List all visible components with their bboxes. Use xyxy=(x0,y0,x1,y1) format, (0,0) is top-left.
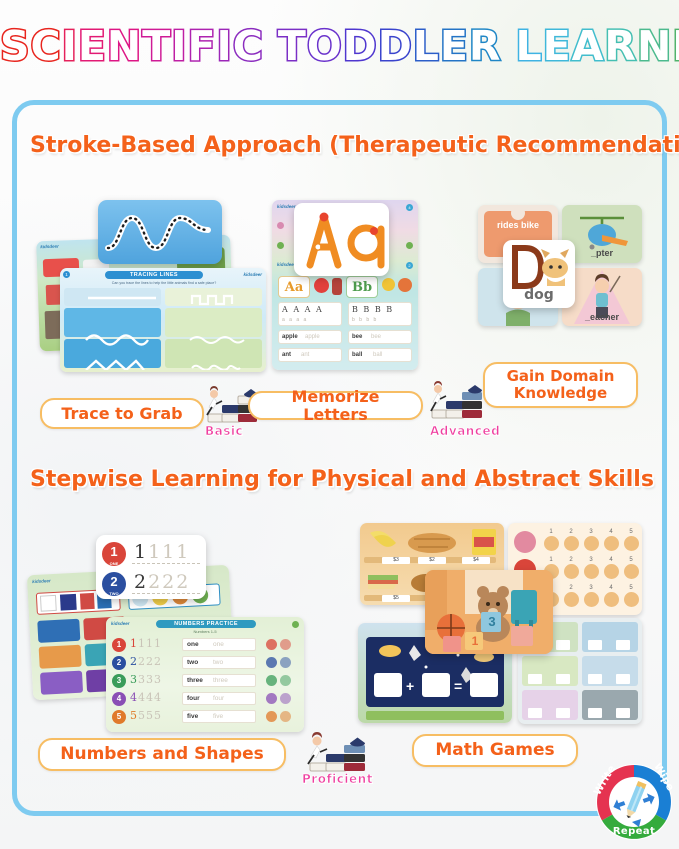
counting-number: 5 xyxy=(622,529,640,535)
ball-icon xyxy=(398,278,412,292)
counting-cell: 5 xyxy=(622,529,640,555)
numbers-overlay-card: 1ONE11112TWO2222 xyxy=(96,535,206,599)
section-heading-stepwise: Stepwise Learning for Physical and Abstr… xyxy=(30,467,654,492)
badge-label: Trace to Grab xyxy=(61,405,182,423)
counting-number: 1 xyxy=(542,557,560,563)
title-letter-2: II xyxy=(62,22,78,70)
cracker-icon xyxy=(544,536,559,551)
tracing-title: TRACING LINES xyxy=(105,271,203,279)
shape-tile xyxy=(39,645,82,669)
playroom-scene-icon xyxy=(425,570,553,654)
word-label: bee xyxy=(352,334,362,340)
fruit-icon xyxy=(280,711,291,722)
flashcard-label: rides bike xyxy=(478,219,558,231)
write-wipe-repeat-seal: Write Wipe Repeat xyxy=(595,763,673,841)
badge-trace-to-grab[interactable]: Trace to Grab xyxy=(40,398,204,429)
dotted-wave-icon xyxy=(98,200,222,264)
trace-letters-lower: b b b b xyxy=(352,317,378,323)
domino-icon xyxy=(60,594,77,611)
counting-cell: 4 xyxy=(602,585,620,611)
tracing-subtitle: Can you trace the lines to help the litt… xyxy=(84,281,244,285)
title-letter-6: II xyxy=(171,22,187,70)
brand-label: kidsdeer xyxy=(40,244,59,250)
answer-box[interactable] xyxy=(616,674,630,684)
title-letter-9: CC xyxy=(233,22,264,70)
numbers-subtitle: Numbers 1-5 xyxy=(106,629,304,634)
counting-number: 5 xyxy=(622,557,640,563)
word-row-bee: bee bee xyxy=(348,330,412,344)
numbers-practice-row: 22222twotwo xyxy=(110,655,300,671)
answer-box[interactable] xyxy=(616,640,630,650)
page-badge: 2 xyxy=(406,262,413,269)
step-number: 1 xyxy=(63,271,70,278)
price-tag: $3 xyxy=(382,557,410,564)
cracker-icon xyxy=(584,592,599,607)
title-letter-3: EE xyxy=(78,22,107,70)
counting-number: 4 xyxy=(602,585,620,591)
cracker-icon xyxy=(624,536,639,551)
number-trace: 1111 xyxy=(130,637,162,650)
number-trace: 5555 xyxy=(130,709,162,722)
title-letter-23: NN xyxy=(637,22,672,70)
letter-d-dog-overlay-card: dog xyxy=(503,240,575,308)
number-badge: 3 xyxy=(112,674,126,688)
page-badge xyxy=(406,242,413,249)
badge-label: Numbers and Shapes xyxy=(60,745,263,764)
playroom-overlay-card: 1 3 xyxy=(425,570,553,654)
trace-paths-icon xyxy=(64,288,262,370)
cracker-icon xyxy=(604,564,619,579)
cracker-icon xyxy=(564,592,579,607)
shape-tile xyxy=(40,671,83,695)
fruit-icon xyxy=(266,693,277,704)
dog-word-label: dog xyxy=(503,287,575,303)
answer-box[interactable] xyxy=(588,640,602,650)
number-word-box: threethree xyxy=(182,674,256,687)
cracker-icon xyxy=(604,592,619,607)
brand-label: kidsdeer xyxy=(277,204,296,209)
practice-row-a: A A A A a a a a xyxy=(278,302,342,326)
title-letter-22: RR xyxy=(604,22,637,70)
answer-box[interactable] xyxy=(470,673,498,697)
cracker-icon xyxy=(624,592,639,607)
title-letter-11: TT xyxy=(278,22,307,70)
title-letter-5: TT xyxy=(142,22,171,70)
trace-baseline xyxy=(132,593,200,594)
page-badge xyxy=(292,621,299,628)
number-badge: 1ONE xyxy=(102,542,126,566)
stage-label-advanced: Advanced xyxy=(430,424,500,438)
badge-label: Math Games xyxy=(435,741,554,760)
counting-cell: 4 xyxy=(602,557,620,583)
bee-icon xyxy=(382,278,395,291)
letter-aa-stroke-icon xyxy=(294,203,389,276)
block-number-3: 3 xyxy=(483,614,501,630)
numbers-overlay-row: 1ONE1111 xyxy=(100,541,202,567)
counting-number: 1 xyxy=(542,529,560,535)
counting-cell: 2 xyxy=(562,585,580,611)
word-ghost: bee xyxy=(371,334,381,340)
brand-label: kidsdeer xyxy=(32,578,51,584)
brand-label: kidsdeer xyxy=(111,621,130,626)
number-word-box: fivefive xyxy=(182,710,256,723)
counting-number: 4 xyxy=(602,529,620,535)
badge-math-games[interactable]: Math Games xyxy=(412,734,578,767)
word-ghost: ball xyxy=(373,352,382,358)
letter-tile-b: Bb xyxy=(346,276,378,298)
trace-letters: A A A A xyxy=(282,305,323,314)
title-letter-13: DD xyxy=(343,22,378,70)
fruit-icon xyxy=(280,693,291,704)
counting-number: 2 xyxy=(562,585,580,591)
badge-label: Memorize Letters xyxy=(259,388,412,424)
cracker-icon xyxy=(584,564,599,579)
number-word-box: twotwo xyxy=(182,656,256,669)
title-letter-7: FF xyxy=(187,22,216,70)
answer-box[interactable] xyxy=(556,640,570,650)
answer-box[interactable] xyxy=(374,673,402,697)
answer-box[interactable] xyxy=(556,708,570,718)
number-word-box: oneone xyxy=(182,638,256,651)
section-heading-stroke-based: Stroke-Based Approach (Therapeutic Recom… xyxy=(30,133,679,158)
block-icon xyxy=(80,593,95,610)
number-trace: 4444 xyxy=(130,691,162,704)
title-letter-20: EE xyxy=(543,22,572,70)
wave-trace-mini-card xyxy=(98,200,222,264)
counting-cell: 3 xyxy=(582,557,600,583)
title-letter-19: LL xyxy=(516,22,543,70)
letter-tile-a: Aa xyxy=(278,276,310,298)
numbers-practice-worksheet: kidsdeer NUMBERS PRACTICE Numbers 1-5 11… xyxy=(106,617,304,732)
counting-cell: 3 xyxy=(582,585,600,611)
badge-gain-domain-knowledge[interactable]: Gain Domain Knowledge xyxy=(483,362,638,408)
block-number-1: 1 xyxy=(467,634,483,648)
number-trace: 2222 xyxy=(134,571,190,593)
badge-label-line1: Gain Domain xyxy=(507,368,615,385)
title-letter-1: CC xyxy=(31,22,62,70)
salami-icon xyxy=(514,531,536,553)
badge-numbers-and-shapes[interactable]: Numbers and Shapes xyxy=(38,738,286,771)
title-letter-0: SS xyxy=(0,22,31,70)
fruit-icon xyxy=(266,711,277,722)
fruit-icon xyxy=(266,657,277,668)
shape-tile xyxy=(37,619,80,643)
number-badge: 5 xyxy=(112,710,126,724)
cracker-icon xyxy=(584,536,599,551)
word-label: ball xyxy=(352,352,362,358)
page-badge: 4 xyxy=(406,204,413,211)
number-badge: 2 xyxy=(112,656,126,670)
number-badge: 1 xyxy=(112,638,126,652)
title-letter-4: NN xyxy=(107,22,142,70)
badge-label-line2: Knowledge xyxy=(514,385,607,402)
practice-row-b: B B B B b b b b xyxy=(348,302,412,326)
page-badge xyxy=(277,222,284,229)
apple-icon xyxy=(314,278,329,293)
price-tag: $2 xyxy=(418,557,446,564)
title-letter-12: OO xyxy=(307,22,343,70)
page-title: SSCCIIEENNTTIIFFIICCTTOODDDDLLEERRLLEEAA… xyxy=(0,22,679,70)
plus-sign: + xyxy=(406,678,414,694)
numbers-practice-row: 44444fourfour xyxy=(110,691,300,707)
answer-box[interactable] xyxy=(556,674,570,684)
title-letter-15: LL xyxy=(413,22,440,70)
counting-number: 3 xyxy=(582,557,600,563)
fruit-icon xyxy=(266,639,277,650)
counting-number: 5 xyxy=(622,585,640,591)
letter-aa-overlay-card xyxy=(294,203,389,276)
price-tag: $5 xyxy=(382,595,410,602)
fruit-icon xyxy=(280,657,291,668)
word-label: ant xyxy=(282,352,291,358)
numbers-practice-row: 11111oneone xyxy=(110,637,300,653)
numbers-practice-row: 55555fivefive xyxy=(110,709,300,725)
title-letter-24: II xyxy=(672,22,679,70)
numbers-title: NUMBERS PRACTICE xyxy=(156,620,256,628)
counting-cell: 4 xyxy=(602,529,620,555)
counting-cell: 1 xyxy=(542,529,560,555)
title-letter-21: AA xyxy=(572,22,605,70)
numbers-overlay-row: 2TWO2222 xyxy=(100,571,202,597)
fruit-icon xyxy=(280,639,291,650)
word-ghost: apple xyxy=(305,334,320,340)
page-badge xyxy=(277,242,284,249)
answer-box[interactable] xyxy=(588,674,602,684)
cracker-icon xyxy=(564,564,579,579)
counting-number: 4 xyxy=(602,557,620,563)
counting-cell: 5 xyxy=(622,585,640,611)
counting-cell: 2 xyxy=(562,529,580,555)
title-letter-8: II xyxy=(216,22,232,70)
flashcard-label: _eacher xyxy=(562,312,642,322)
number-trace: 3333 xyxy=(130,673,162,686)
counting-number: 3 xyxy=(582,529,600,535)
word-row-ant: ant ant xyxy=(278,348,342,362)
answer-box[interactable] xyxy=(528,674,542,684)
answer-box[interactable] xyxy=(528,708,542,718)
seal-label-repeat: Repeat xyxy=(595,826,673,837)
number-trace: 2222 xyxy=(130,655,162,668)
number-badge: 2TWO xyxy=(102,572,126,596)
trace-letters: B B B B xyxy=(352,305,394,314)
number-word-box: fourfour xyxy=(182,692,256,705)
answer-box[interactable] xyxy=(616,708,630,718)
fruit-icon xyxy=(280,675,291,686)
square-icon xyxy=(40,595,57,612)
counting-cell: 3 xyxy=(582,529,600,555)
word-label: apple xyxy=(282,334,298,340)
stairs-icon-proficient xyxy=(296,723,378,773)
fruit-icon xyxy=(266,675,277,686)
number-badge: 4 xyxy=(112,692,126,706)
trace-letters-lower: a a a a xyxy=(282,317,308,323)
cracker-icon xyxy=(624,564,639,579)
word-ghost: ant xyxy=(301,352,309,358)
cracker-icon xyxy=(564,536,579,551)
counting-cell: 2 xyxy=(562,557,580,583)
title-letter-14: DD xyxy=(378,22,413,70)
tracing-lines-worksheet: 1 TRACING LINES kidsdeer Can you trace t… xyxy=(60,268,266,372)
counting-cell: 5 xyxy=(622,557,640,583)
number-trace: 1111 xyxy=(134,541,190,563)
stage-label-basic: Basic xyxy=(205,424,243,438)
brand-label: kidsdeer xyxy=(243,272,262,277)
answer-box[interactable] xyxy=(588,708,602,718)
price-tag: $4 xyxy=(462,557,490,564)
ant-icon xyxy=(332,278,342,295)
word-row-ball: ball ball xyxy=(348,348,412,362)
ground-strip xyxy=(366,711,504,720)
title-letter-17: RR xyxy=(469,22,502,70)
numbers-practice-row: 33333threethree xyxy=(110,673,300,689)
equals-sign: = xyxy=(454,678,462,694)
brand-label: kidsdeer xyxy=(277,262,296,267)
counting-number: 2 xyxy=(562,557,580,563)
counting-number: 2 xyxy=(562,529,580,535)
badge-memorize-letters[interactable]: Memorize Letters xyxy=(248,391,423,420)
stage-label-proficient: Proficient xyxy=(302,772,373,786)
answer-box[interactable] xyxy=(422,673,450,697)
trace-baseline xyxy=(132,563,200,564)
counting-number: 3 xyxy=(582,585,600,591)
title-letter-16: EE xyxy=(440,22,469,70)
cracker-icon xyxy=(604,536,619,551)
word-row-apple: apple apple xyxy=(278,330,342,344)
